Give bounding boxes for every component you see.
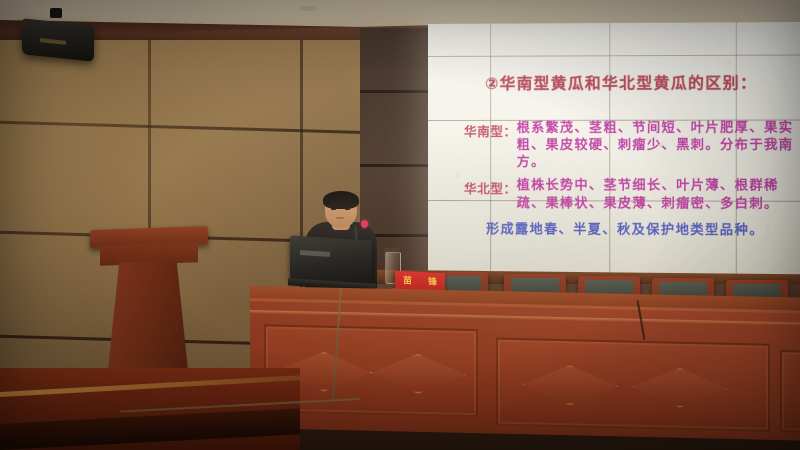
speaker-brand-mark [40,38,66,45]
ceiling-vent [300,6,316,11]
wall-speaker [22,18,94,62]
presenter-eye [345,208,350,210]
placard-char-1: 苗 [403,277,412,286]
screen-glare [428,22,800,278]
desk-diamond-inlay [522,364,618,406]
placard-char-2: 锋 [428,278,437,287]
desk-diamond-inlay [370,353,466,395]
desk-rail [250,310,800,327]
podium-body [108,262,188,370]
speaker-bracket [50,8,62,18]
projection-screen: ②华南型黄瓜和华北型黄瓜的区别： 华南型： 根系繁茂、茎粗、节间短、叶片肥厚、果… [428,22,800,278]
presenter-eye [331,208,336,210]
lenovo-logo [300,250,330,257]
desk-panel [496,338,770,432]
conference-desk-front [250,298,800,441]
microphone-head [361,220,368,228]
presenter-hair [323,191,359,209]
wall-seam [0,121,372,134]
desk-panel [780,350,800,434]
lecture-hall-scene: ②华南型黄瓜和华北型黄瓜的区别： 华南型： 根系繁茂、茎粗、节间短、叶片肥厚、果… [0,0,800,450]
desk-diamond-inlay [632,367,728,409]
presenter-mouth [336,217,344,219]
